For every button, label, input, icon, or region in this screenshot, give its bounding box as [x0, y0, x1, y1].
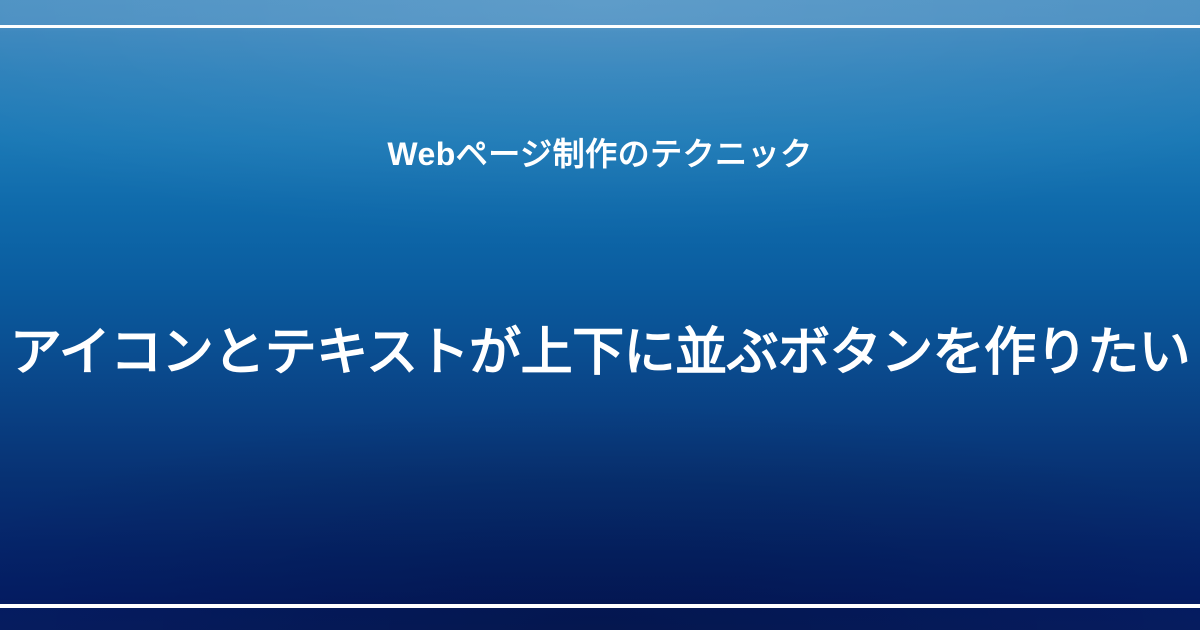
banner-headline-text: アイコンとテキストが上下に並ぶボタンを作りたい — [0, 318, 1200, 388]
ogp-banner: Webページ制作のテクニック アイコンとテキストが上下に並ぶボタンを作りたい — [0, 0, 1200, 630]
banner-eyebrow-text: Webページ制作のテクニック — [0, 131, 1200, 177]
banner-content: Webページ制作のテクニック アイコンとテキストが上下に並ぶボタンを作りたい — [0, 0, 1200, 630]
